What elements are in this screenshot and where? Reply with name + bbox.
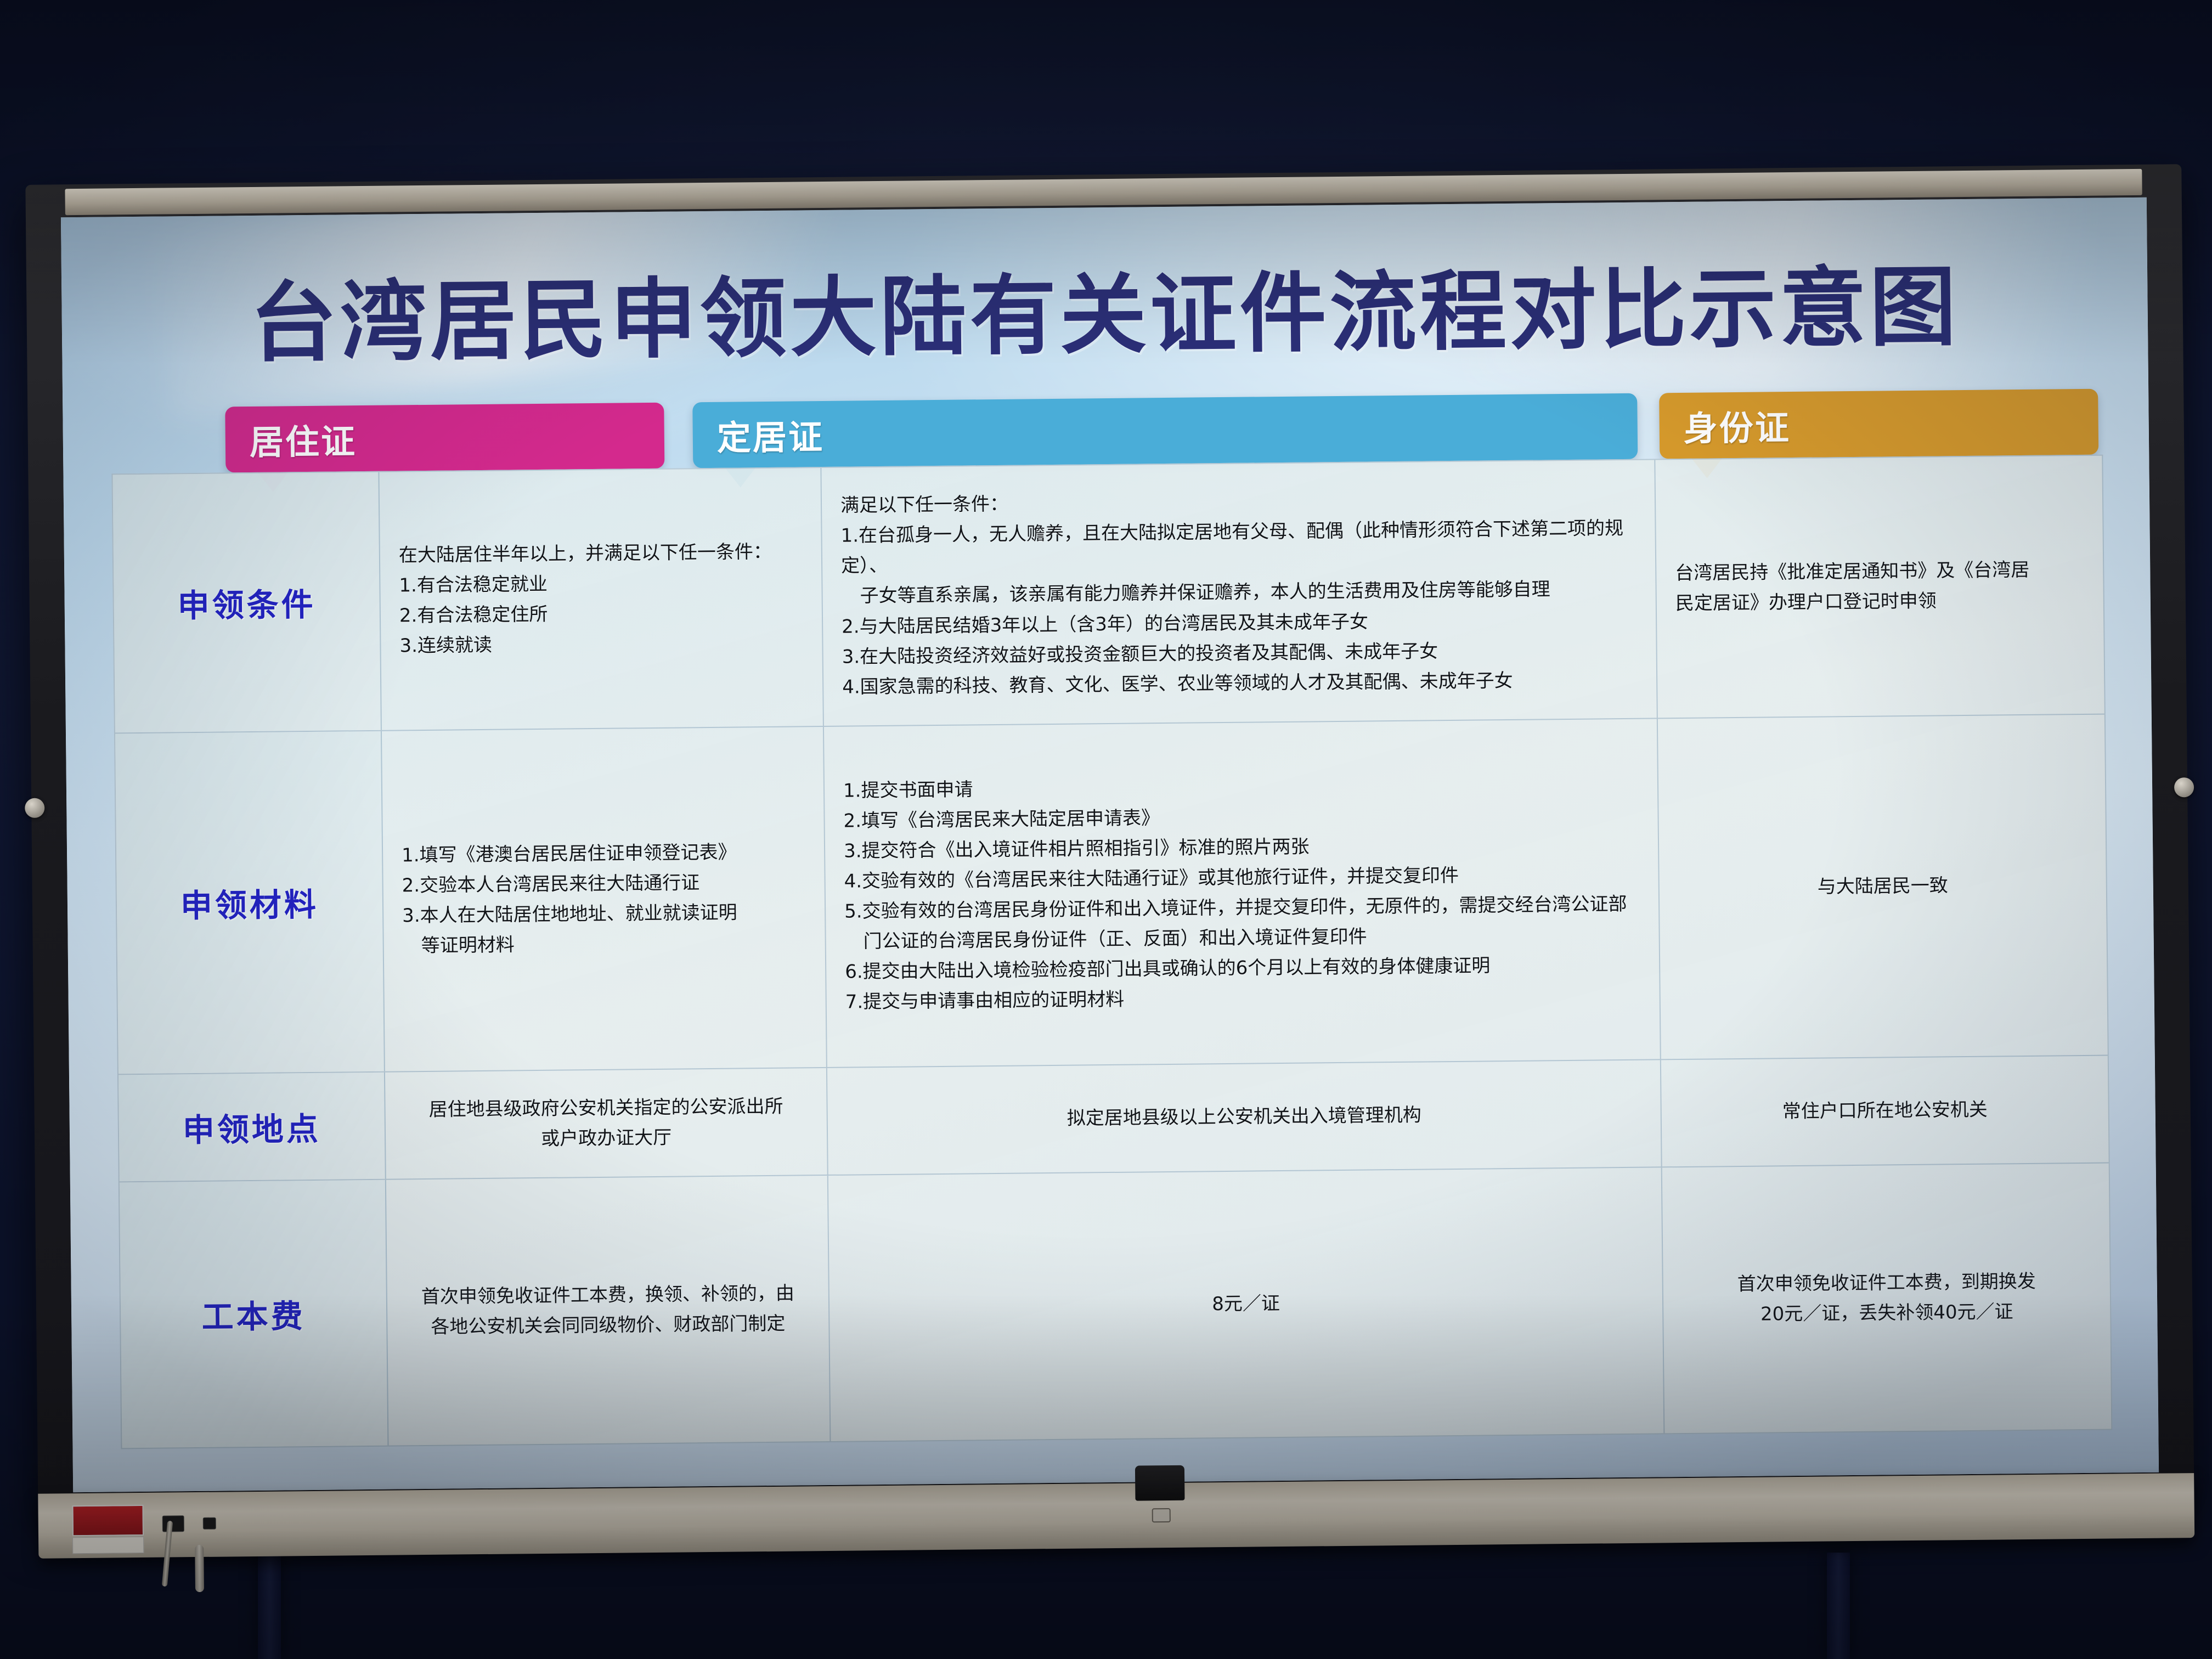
hdmi-port[interactable] bbox=[162, 1515, 184, 1532]
table-row-materials: 申领材料1.填写《港澳台居民居住证申领登记表》2.交验本人台湾居民来往大陆通行证… bbox=[115, 715, 2108, 1075]
room-background: 台湾居民申领大陆有关证件流程对比示意图 居住证 定居证 身份证 bbox=[0, 0, 2212, 1659]
column-header-id-card[interactable]: 身份证 bbox=[1659, 389, 2098, 459]
presentation-slide: 台湾居民申领大陆有关证件流程对比示意图 居住证 定居证 身份证 bbox=[61, 198, 2159, 1492]
stand-leg-right bbox=[1827, 1553, 1850, 1659]
cell-conditions-id-card: 台湾居民持《批准定居通知书》及《台湾居民定居证》办理户口登记时申领 bbox=[1655, 456, 2104, 718]
table-row-location: 申领地点居住地县级政府公安机关指定的公安派出所或户政办证大厅拟定居地县级以上公安… bbox=[119, 1056, 2109, 1183]
cable-lock-screw bbox=[195, 1545, 204, 1592]
cell-line: 3.连续就读 bbox=[399, 627, 803, 661]
column-header-label: 定居证 bbox=[716, 409, 824, 460]
cell-line: 2.交验本人台湾居民来往大陆通行证 bbox=[402, 867, 805, 901]
cell-materials-id-card: 与大陆居民一致 bbox=[1658, 715, 2108, 1059]
bezel-knob-left[interactable] bbox=[25, 798, 44, 818]
stand-leg-left bbox=[258, 1553, 281, 1659]
cell-line: 20元／证，丢失补领40元／证 bbox=[1760, 1297, 2013, 1329]
row-label-fee: 工本费 bbox=[120, 1180, 389, 1448]
row-label-conditions: 申领条件 bbox=[112, 472, 381, 733]
cell-line: 常住户口所在地公安机关 bbox=[1782, 1095, 1988, 1127]
cell-fee-settlement-permit: 8元／证 bbox=[828, 1167, 1665, 1441]
column-header-residence-permit[interactable]: 居住证 bbox=[225, 403, 664, 473]
cell-line: 1.填写《港澳台居民居住证申领登记表》 bbox=[402, 837, 805, 871]
comparison-table: 申领条件在大陆居住半年以上，并满足以下任一条件：1.有合法稳定就业2.有合法稳定… bbox=[111, 455, 2112, 1449]
screen: 台湾居民申领大陆有关证件流程对比示意图 居住证 定居证 身份证 bbox=[61, 198, 2159, 1492]
cell-line: 居住地县级政府公安机关指定的公安派出所 bbox=[428, 1092, 783, 1125]
cell-conditions-settlement-permit: 满足以下任一条件：1.在台孤身一人，无人赡养，且在大陆拟定居地有父母、配偶（此种… bbox=[821, 460, 1657, 726]
spec-label-sticker bbox=[72, 1537, 144, 1554]
cell-line: 在大陆居住半年以上，并满足以下任一条件： bbox=[399, 537, 803, 571]
table-row-fee: 工本费首次申领免收证件工本费，换领、补领的，由各地公安机关会同同级物价、财政部门… bbox=[120, 1164, 2111, 1448]
bezel-knob-right[interactable] bbox=[2174, 777, 2194, 797]
cell-fee-id-card: 首次申领免收证件工本费，到期换发20元／证，丢失补领40元／证 bbox=[1662, 1164, 2112, 1434]
camera-housing bbox=[1135, 1465, 1185, 1501]
cell-line: 拟定居地县级以上公安机关出入境管理机构 bbox=[1067, 1101, 1421, 1134]
cell-materials-settlement-permit: 1.提交书面申请2.填写《台湾居民来大陆定居申请表》3.提交符合《出入境证件相片… bbox=[824, 719, 1661, 1067]
page-title: 台湾居民申领大陆有关证件流程对比示意图 bbox=[61, 262, 2148, 369]
cell-line: 1.在台孤身一人，无人赡养，且在大陆拟定居地有父母、配偶（此种情形须符合下述第二… bbox=[840, 513, 1637, 582]
cell-location-residence-permit: 居住地县级政府公安机关指定的公安派出所或户政办证大厅 bbox=[385, 1068, 828, 1179]
warning-sticker bbox=[72, 1505, 144, 1536]
cell-line: 首次申领免收证件工本费，换领、补领的，由 bbox=[421, 1278, 794, 1312]
cell-line: 1.有合法稳定就业 bbox=[399, 567, 803, 601]
column-header-settlement-permit[interactable]: 定居证 bbox=[692, 393, 1638, 469]
row-label-materials: 申领材料 bbox=[115, 731, 385, 1074]
cell-fee-residence-permit: 首次申领免收证件工本费，换领、补领的，由各地公安机关会同同级物价、财政部门制定 bbox=[386, 1176, 831, 1446]
cell-location-id-card: 常住户口所在地公安机关 bbox=[1661, 1056, 2109, 1167]
cell-line: 首次申领免收证件工本费，到期换发 bbox=[1737, 1267, 2036, 1300]
cell-location-settlement-permit: 拟定居地县级以上公安机关出入境管理机构 bbox=[827, 1060, 1662, 1175]
cell-line: 各地公安机关会同同级物价、财政部门制定 bbox=[431, 1309, 785, 1342]
cell-line: 民定居证》办理户口登记时申领 bbox=[1675, 585, 2085, 619]
camera-icon bbox=[1152, 1508, 1171, 1522]
display-device: 台湾居民申领大陆有关证件流程对比示意图 居住证 定居证 身份证 bbox=[25, 164, 2194, 1523]
cell-line: 2.有合法稳定住所 bbox=[399, 597, 803, 631]
cell-line: 3.本人在大陆居住地地址、就业就读证明 bbox=[402, 897, 806, 931]
cell-line: 与大陆居民一致 bbox=[1818, 871, 1949, 902]
cell-line: 台湾居民持《批准定居通知书》及《台湾居 bbox=[1675, 555, 2084, 589]
cell-conditions-residence-permit: 在大陆居住半年以上，并满足以下任一条件：1.有合法稳定就业2.有合法稳定住所3.… bbox=[379, 468, 823, 730]
cell-materials-residence-permit: 1.填写《港澳台居民居住证申领登记表》2.交验本人台湾居民来往大陆通行证3.本人… bbox=[382, 727, 827, 1071]
cell-line: 等证明材料 bbox=[402, 927, 806, 961]
usb-port[interactable] bbox=[203, 1517, 216, 1530]
cell-line: 8元／证 bbox=[1212, 1289, 1280, 1320]
cell-line: 或户政办证大厅 bbox=[541, 1123, 672, 1154]
column-header-label: 身份证 bbox=[1683, 400, 1791, 450]
row-label-location: 申领地点 bbox=[119, 1073, 386, 1182]
column-header-label: 居住证 bbox=[249, 414, 357, 464]
table-row-conditions: 申领条件在大陆居住半年以上，并满足以下任一条件：1.有合法稳定就业2.有合法稳定… bbox=[112, 456, 2104, 734]
